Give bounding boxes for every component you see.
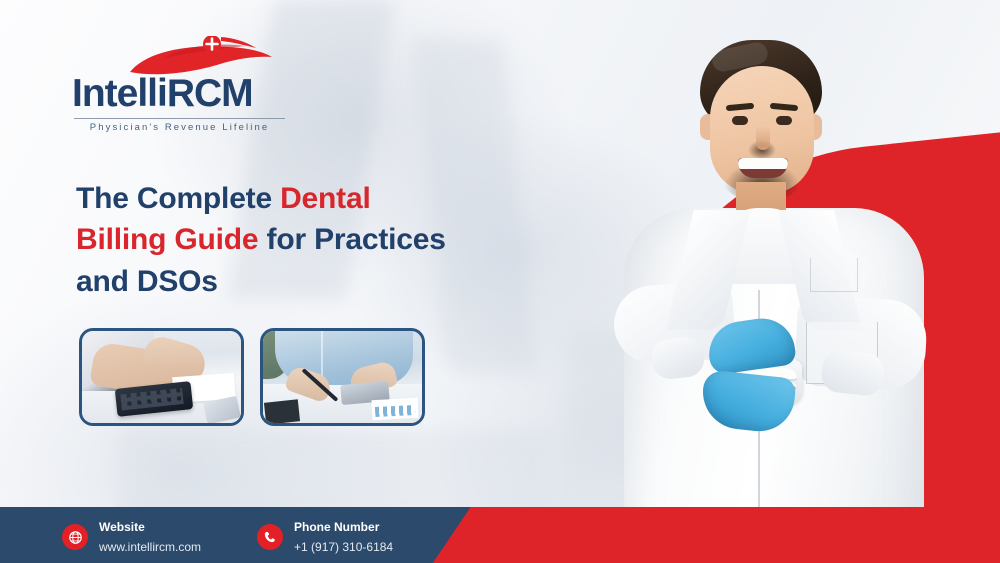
thumbnail-gallery [79, 328, 425, 426]
headline-line1-prefix: The Complete [76, 182, 280, 215]
contact-website[interactable]: Website www.intellircm.com [62, 517, 201, 557]
right-eye [776, 116, 792, 125]
logo-wordmark: IntelliRCM [72, 74, 287, 113]
logo-divider [74, 118, 285, 119]
headline-accent-billing-guide: Billing Guide [76, 223, 258, 256]
accountant-writing-photo [263, 331, 422, 423]
phone-icon [257, 524, 283, 550]
logo-tagline: Physician's Revenue Lifeline [72, 122, 287, 133]
teeth [738, 158, 788, 169]
nose [756, 126, 770, 150]
contact-phone[interactable]: Phone Number +1 (917) 310-6184 [257, 517, 393, 557]
contact-value-website[interactable]: www.intellircm.com [99, 540, 201, 554]
headline-line2-suffix: for Practices [258, 223, 445, 256]
contact-list: Website www.intellircm.com Phone Number … [62, 517, 393, 557]
thumbnail-calculator-hands[interactable] [79, 328, 244, 426]
contact-footer-bar: Website www.intellircm.com Phone Number … [0, 507, 1000, 563]
logo-swoosh-icon [124, 36, 287, 78]
coat-right-cuff [820, 349, 886, 397]
marketing-banner: IntelliRCM Physician's Revenue Lifeline … [0, 0, 1000, 563]
dentist-portrait [560, 22, 960, 563]
headline-accent-dental: Dental [280, 182, 371, 215]
coat-chest-pocket [810, 258, 858, 292]
smiling-mouth [738, 158, 788, 178]
thumbnail-accountant-writing[interactable] [260, 328, 425, 426]
headline-line3: and DSOs [76, 265, 218, 298]
contact-label-phone: Phone Number [294, 520, 379, 534]
page-title: The Complete Dental Billing Guide for Pr… [76, 178, 546, 302]
contact-label-website: Website [99, 520, 145, 534]
left-eye [732, 116, 748, 125]
calculator-hands-photo [82, 331, 241, 423]
globe-icon [62, 524, 88, 550]
footer-red-wedge [418, 507, 1000, 563]
intellircm-logo[interactable]: IntelliRCM Physician's Revenue Lifeline [72, 36, 287, 133]
contact-value-phone[interactable]: +1 (917) 310-6184 [294, 540, 393, 554]
